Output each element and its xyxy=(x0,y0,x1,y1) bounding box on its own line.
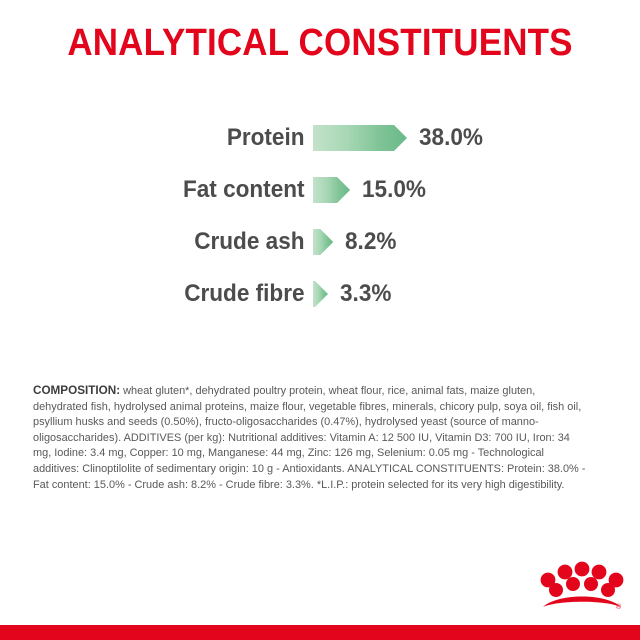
bar-fill-crude-ash xyxy=(313,229,333,255)
composition-heading: COMPOSITION: xyxy=(33,383,120,397)
bottom-red-bar xyxy=(0,625,640,640)
bar-fill-protein xyxy=(313,125,407,151)
bar-row: Crude fibre 3.3% xyxy=(0,268,640,320)
bar-fill-fat-content xyxy=(313,177,350,203)
bar-track-crude-fibre xyxy=(313,281,328,307)
bar-track-crude-ash xyxy=(313,229,333,255)
registered-trademark-mark: ® xyxy=(616,603,622,611)
bar-row: Crude ash 8.2% xyxy=(0,216,640,268)
royal-canin-crown-logo: ® xyxy=(540,557,624,615)
bar-label-crude-ash: Crude ash xyxy=(19,228,313,256)
bar-row: Protein 38.0% xyxy=(0,112,640,164)
composition-text-block: COMPOSITION: wheat gluten*, dehydrated p… xyxy=(33,383,588,493)
composition-body: wheat gluten*, dehydrated poultry protei… xyxy=(33,385,585,491)
bar-track-protein xyxy=(313,125,407,151)
bar-label-crude-fibre: Crude fibre xyxy=(19,280,313,308)
bar-track-fat-content xyxy=(313,177,350,203)
analytical-constituents-chart: Protein 38.0% Fat content 15.0% Crude as… xyxy=(0,112,640,320)
bar-value-crude-fibre: 3.3% xyxy=(340,280,391,308)
bar-label-protein: Protein xyxy=(19,124,313,152)
bar-label-fat-content: Fat content xyxy=(19,176,313,204)
bar-value-protein: 38.0% xyxy=(419,124,483,152)
bar-fill-crude-fibre xyxy=(313,281,328,307)
page-title: ANALYTICAL CONSTITUENTS xyxy=(26,22,615,65)
bar-value-crude-ash: 8.2% xyxy=(345,228,396,256)
crown-icon: ® xyxy=(540,557,624,615)
bar-value-fat-content: 15.0% xyxy=(362,176,426,204)
bar-row: Fat content 15.0% xyxy=(0,164,640,216)
